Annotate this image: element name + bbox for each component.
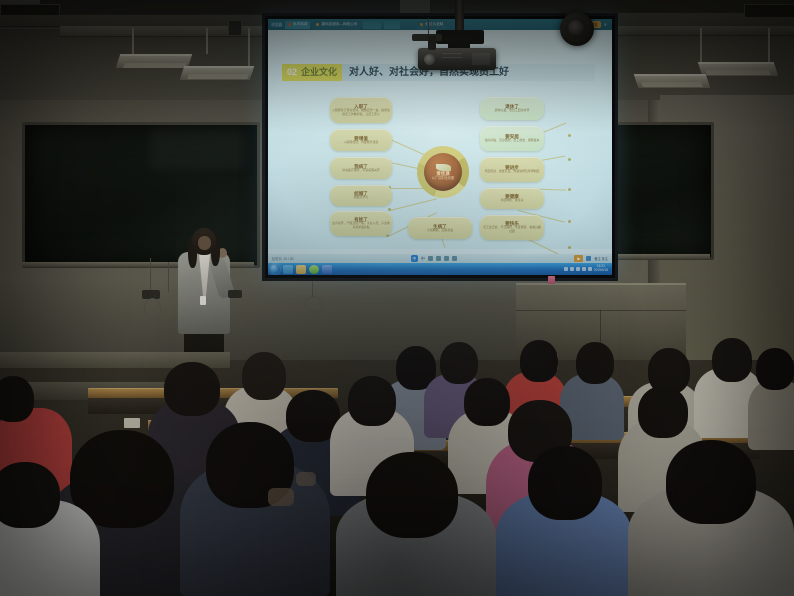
clock-date: 2019/4/18 bbox=[594, 268, 608, 272]
projector-vent bbox=[442, 53, 462, 54]
lamp-rod bbox=[132, 28, 134, 56]
audience-head bbox=[756, 348, 794, 390]
slide-pill-right-3: 要健康 年度体检、健身房 bbox=[480, 188, 544, 209]
ceiling-projector bbox=[418, 48, 496, 70]
cable-hook bbox=[144, 298, 161, 320]
hub-subtitle: 从广招利全景图 bbox=[432, 177, 454, 180]
browser-tab-0[interactable]: 私市商城 bbox=[285, 21, 310, 29]
pill-body: 生育关怀，产假及陪产假，子女入托、子女教育奖学金补贴 bbox=[332, 222, 390, 229]
audience-head bbox=[366, 452, 458, 538]
ceiling-fixture-corner bbox=[0, 4, 60, 16]
slide-section-number: 02 bbox=[287, 68, 297, 77]
audience-head bbox=[0, 376, 34, 422]
lamp-rod bbox=[248, 28, 250, 66]
paper-sheet bbox=[124, 418, 140, 428]
tab-favicon-icon bbox=[316, 23, 319, 26]
audience-head bbox=[520, 340, 558, 382]
ime-punctuation-icon[interactable] bbox=[436, 256, 441, 261]
leaf-logo-icon bbox=[436, 164, 451, 171]
hub-center-circle: 爱佳源 从广招利全景图 bbox=[424, 153, 462, 191]
tray-icon[interactable] bbox=[564, 267, 568, 271]
browser-tab-label: 私市商城 bbox=[293, 22, 307, 27]
connector-node bbox=[568, 134, 571, 137]
audience-head bbox=[348, 376, 396, 426]
slide-pill-right-2: 要进步 年度培训、技能认证、内部讲师及导师制度 bbox=[480, 157, 544, 182]
browser-logo: 浏览器 bbox=[271, 22, 282, 28]
browser-icon[interactable] bbox=[283, 265, 293, 274]
media-icon[interactable] bbox=[309, 265, 319, 274]
audience-head bbox=[164, 362, 220, 416]
ime-tray[interactable]: 中 中 bbox=[411, 255, 457, 262]
audience-hand bbox=[296, 472, 316, 486]
pill-body: 年度体检、健身房 bbox=[500, 199, 523, 203]
ime-label: 中 bbox=[421, 256, 425, 262]
windows-start-icon[interactable] bbox=[270, 264, 280, 274]
close-icon[interactable]: ✕ bbox=[604, 22, 607, 27]
lamp-tube bbox=[705, 70, 771, 75]
connector-node bbox=[568, 188, 571, 191]
connector-line bbox=[390, 198, 437, 211]
hanging-cable bbox=[168, 262, 169, 292]
presenter-remote bbox=[228, 290, 242, 298]
file-explorer-icon[interactable] bbox=[296, 265, 306, 274]
slideshow-play-button[interactable]: ▶ bbox=[574, 255, 583, 262]
projector-vent bbox=[442, 57, 462, 58]
pill-body: 入职即培训，内部晋升通道 bbox=[344, 141, 379, 145]
audience-hand bbox=[268, 488, 294, 506]
office-icon[interactable] bbox=[322, 265, 332, 274]
tray-icon[interactable] bbox=[576, 267, 580, 271]
audience-head bbox=[666, 440, 756, 524]
browser-tab-3[interactable] bbox=[384, 21, 400, 29]
lamp-tube bbox=[641, 82, 703, 87]
presenter-face bbox=[198, 236, 211, 250]
ime-toolbox-icon[interactable] bbox=[452, 256, 457, 261]
pill-body: 年度培训、技能认证、内部讲师及导师制度 bbox=[485, 170, 540, 174]
ceiling-duct-rail-right bbox=[430, 0, 794, 13]
network-icon[interactable] bbox=[582, 267, 586, 271]
slide-pill-left-2: 我病了 补充医疗保险，带薪病假关怀 bbox=[330, 157, 392, 179]
slide-pill-bottom: 生病了 大病救助、互助基金 bbox=[408, 217, 472, 239]
blackboard-left bbox=[22, 122, 260, 268]
ppt-right-controls[interactable]: ▶ 备注 批注 bbox=[574, 255, 608, 262]
notes-icon[interactable] bbox=[586, 256, 591, 261]
powerpoint-status-bar[interactable]: 幻灯片 10 / 30 中 中 ▶ 备注 批注 bbox=[268, 254, 612, 263]
slide-pill-right-4: 要快乐 员工生日会、节日福利、年度旅游、各类兴趣社团 bbox=[480, 215, 544, 240]
lamp-tube bbox=[123, 63, 187, 68]
lamp-rod bbox=[206, 28, 208, 54]
tray-icon[interactable] bbox=[570, 267, 574, 271]
projector-lens-icon bbox=[424, 54, 435, 65]
lecture-hall-photo: 浏览器 私市商城 康科技服务—网络公司 幻灯片放映 ▭ 未登录 bbox=[0, 0, 794, 596]
tab-favicon-icon bbox=[420, 23, 423, 26]
tab-favicon-icon bbox=[288, 23, 291, 26]
browser-tab-1[interactable]: 康科技服务—网络公司 bbox=[313, 21, 360, 29]
pill-body: 大病救助、互助基金 bbox=[427, 229, 453, 233]
audience-head bbox=[0, 462, 60, 528]
hanging-module bbox=[428, 36, 436, 50]
taskbar-clock[interactable]: 15:21 2019/4/18 bbox=[594, 265, 608, 272]
connector-node bbox=[568, 158, 571, 161]
pink-cup bbox=[548, 276, 555, 284]
pill-body: 住房补贴、无息借款，员工宿舍、通勤班车 bbox=[485, 139, 540, 143]
slide-counter: 幻灯片 10 / 30 bbox=[272, 256, 293, 261]
system-tray[interactable]: 15:21 2019/4/18 bbox=[564, 265, 610, 272]
ime-keyboard-icon[interactable] bbox=[428, 256, 433, 261]
connector-node bbox=[568, 246, 571, 249]
hanging-cable bbox=[150, 258, 151, 292]
slide-pill-left-0: 入职了 入职即签订劳动合同，缴纳五险一金，提供住宿及工作餐补贴，让员工安心 bbox=[330, 97, 392, 123]
pill-body: 退休礼金，老员工回访关怀 bbox=[495, 109, 530, 113]
slide-pill-right-1: 要安居 住房补贴、无息借款，员工宿舍、通勤班车 bbox=[480, 126, 544, 151]
slide-section-title: 企业文化 bbox=[301, 68, 337, 77]
speaker-cone-icon bbox=[568, 20, 584, 36]
audience-head bbox=[712, 338, 752, 382]
projector-panel bbox=[472, 53, 490, 65]
ceiling-fixture-corner-right bbox=[744, 4, 794, 18]
audience-head bbox=[576, 342, 614, 384]
audience-body bbox=[748, 380, 794, 450]
slide-pill-left-1: 要增值 入职即培训，内部晋升通道 bbox=[330, 129, 392, 151]
browser-tab-label: 康科技服务—网络公司 bbox=[321, 22, 357, 27]
pill-body: 补充医疗保险，带薪病假关怀 bbox=[342, 169, 380, 173]
pill-body: 员工生日会、节日福利、年度旅游、各类兴趣社团 bbox=[482, 226, 542, 233]
screen-cable-loop bbox=[305, 296, 323, 312]
ime-chinese-icon[interactable]: 中 bbox=[411, 255, 418, 262]
projector-mount-pole bbox=[455, 0, 464, 34]
volume-icon[interactable] bbox=[588, 267, 592, 271]
slide-section-chip: 02 企业文化 bbox=[282, 64, 342, 81]
slide-pill-right-0: 退休了 退休礼金，老员工回访关怀 bbox=[480, 97, 544, 120]
audience-head bbox=[638, 386, 688, 438]
notes-label: 备注 批注 bbox=[594, 256, 608, 261]
slide-pill-left-4: 有娃了 生育关怀，产假及陪产假，子女入托、子女教育奖学金补贴 bbox=[330, 211, 392, 236]
podium-seam bbox=[516, 310, 686, 311]
pill-body: 婚假及贺礼 bbox=[354, 196, 368, 200]
hanging-tray bbox=[412, 34, 442, 41]
lanyard-badge bbox=[200, 296, 206, 305]
audience-head bbox=[242, 352, 286, 400]
slide-pill-left-3: 结婚了 婚假及贺礼 bbox=[330, 185, 392, 206]
lamp-tube bbox=[187, 74, 249, 79]
wall-sensor-box bbox=[228, 20, 242, 36]
windows-taskbar[interactable]: 15:21 2019/4/18 bbox=[268, 263, 612, 275]
pill-body: 入职即签订劳动合同，缴纳五险一金，提供住宿及工作餐补贴，让员工安心 bbox=[332, 109, 390, 116]
connector-node bbox=[388, 208, 391, 211]
audience-head bbox=[528, 446, 602, 520]
connector-node bbox=[568, 220, 571, 223]
browser-window-tab[interactable]: 幻灯片放映 bbox=[417, 21, 446, 29]
lamp-rod bbox=[768, 28, 770, 62]
audience-head bbox=[440, 342, 478, 384]
audience-head bbox=[464, 378, 510, 426]
browser-tab-2[interactable] bbox=[363, 21, 381, 29]
ime-settings-icon[interactable] bbox=[444, 256, 449, 261]
